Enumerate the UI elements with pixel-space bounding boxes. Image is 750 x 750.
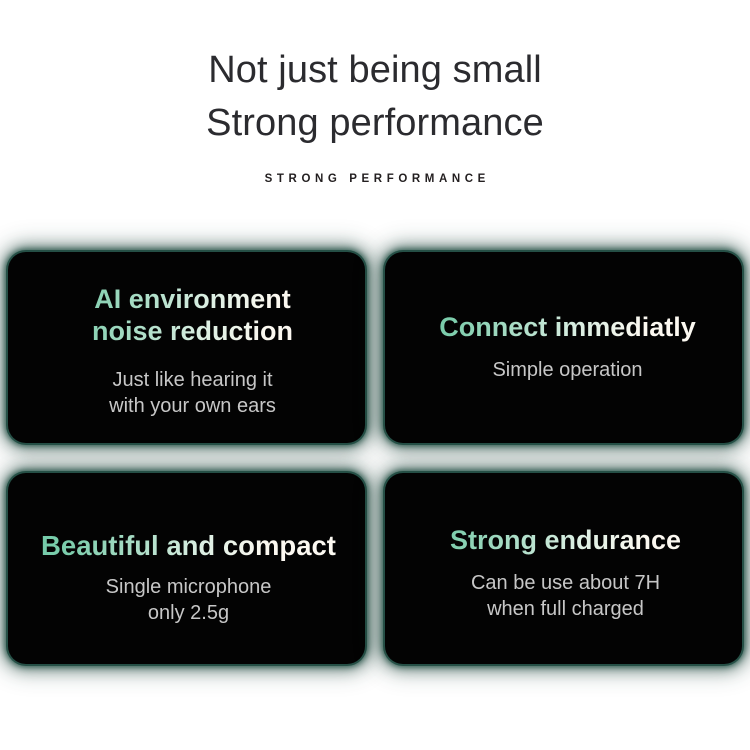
card-subtitle: Just like hearing it with your own ears bbox=[24, 367, 361, 419]
card-title: AI environment noise reduction bbox=[24, 283, 361, 347]
card-content: AI environment noise reduction Just like… bbox=[14, 283, 365, 419]
card-subtitle: Simple operation bbox=[399, 357, 736, 383]
eyebrow-subtitle: STRONG PERFORMANCE bbox=[0, 173, 750, 185]
promo-page: Not just being small Strong performance … bbox=[0, 0, 750, 750]
card-content: Beautiful and compact Single microphone … bbox=[10, 530, 365, 626]
card-content: Connect immediatly Simple operation bbox=[389, 312, 742, 383]
card-subtitle: Single microphone only 2.5g bbox=[20, 574, 357, 626]
card-subtitle: Can be use about 7H when full charged bbox=[397, 570, 734, 622]
feature-card-grid: AI environment noise reduction Just like… bbox=[8, 252, 742, 664]
page-header: Not just being small Strong performance … bbox=[0, 44, 750, 185]
feature-card-connect-immediately: Connect immediatly Simple operation bbox=[385, 252, 742, 443]
card-content: Strong endurance Can be use about 7H whe… bbox=[387, 525, 742, 622]
card-title: Connect immediatly bbox=[399, 312, 736, 343]
headline-line-2: Strong performance bbox=[0, 97, 750, 150]
feature-card-strong-endurance: Strong endurance Can be use about 7H whe… bbox=[385, 473, 742, 664]
card-title: Beautiful and compact bbox=[20, 530, 357, 561]
headline-line-1: Not just being small bbox=[0, 44, 750, 97]
card-title: Strong endurance bbox=[397, 525, 734, 556]
feature-card-ai-noise-reduction: AI environment noise reduction Just like… bbox=[8, 252, 365, 443]
feature-card-beautiful-compact: Beautiful and compact Single microphone … bbox=[8, 473, 365, 664]
